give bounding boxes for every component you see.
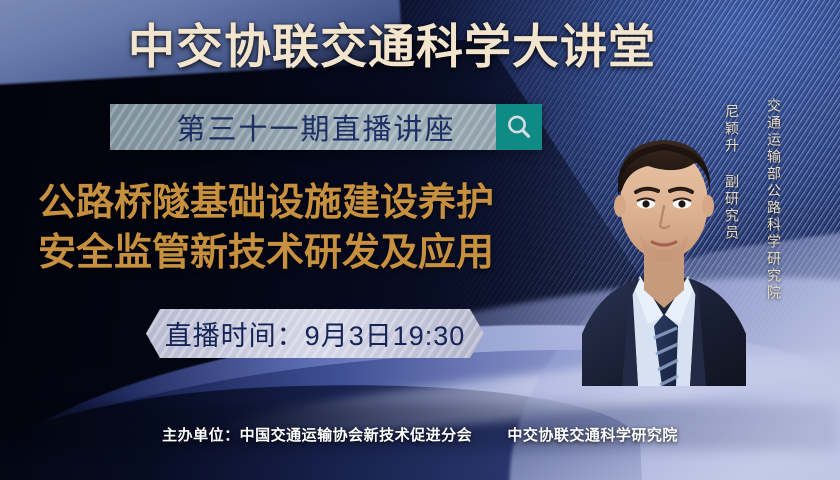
search-icon bbox=[504, 112, 534, 142]
session-label: 第三十一期直播讲座 bbox=[110, 104, 496, 150]
footer: 主办单位：中国交通运输协会新技术促进分会 中交协联交通科学研究院 bbox=[0, 424, 840, 445]
broadcast-time-label: 直播时间：9月3日19:30 bbox=[165, 314, 466, 353]
session-banner: 第三十一期直播讲座 bbox=[110, 104, 542, 150]
footer-co-organizer: 中交协联交通科学研究院 bbox=[507, 427, 678, 444]
topic-line-2: 安全监管新技术研发及应用 bbox=[38, 228, 598, 278]
speaker-organization: 交通运输部公路科学研究院 bbox=[764, 98, 784, 358]
search-icon-button[interactable] bbox=[496, 104, 542, 150]
topic-line-1: 公路桥隧基础设施建设养护 bbox=[38, 178, 598, 228]
speaker-name: 尼颖升 副研究员 bbox=[722, 104, 742, 304]
topic-title: 公路桥隧基础设施建设养护 安全监管新技术研发及应用 bbox=[38, 178, 598, 278]
footer-organizer: 主办单位：中国交通运输协会新技术促进分会 bbox=[162, 427, 472, 444]
session-banner-fill: 第三十一期直播讲座 bbox=[110, 104, 496, 150]
live-stream-poster: 中交协联交通科学大讲堂 第三十一期直播讲座 公路桥隧基础设施建设养护 安全监管新… bbox=[0, 0, 840, 480]
broadcast-time-banner: 直播时间：9月3日19:30 bbox=[146, 309, 484, 358]
page-title: 中交协联交通科学大讲堂 bbox=[128, 18, 718, 76]
